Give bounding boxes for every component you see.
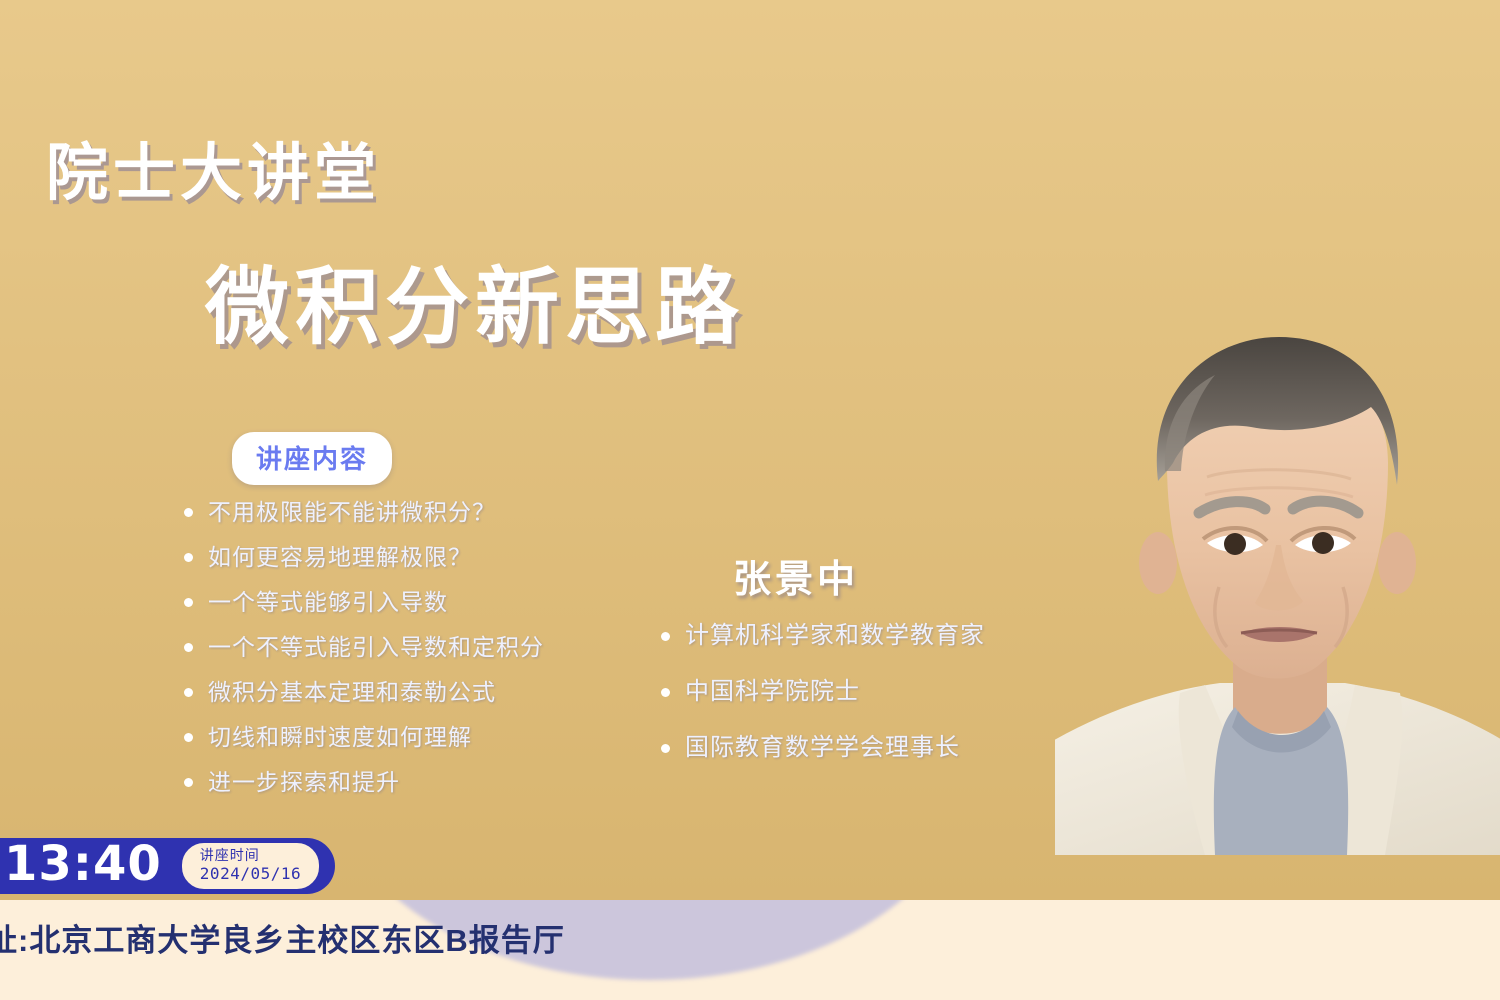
list-item: 国际教育数学学会理事长 [655, 730, 985, 766]
speaker-credentials-list: 计算机科学家和数学教育家 中国科学院院士 国际教育数学学会理事长 [655, 618, 985, 786]
venue-address: 址:北京工商大学良乡主校区东区B报告厅 [0, 915, 565, 960]
date-capsule: 讲座时间 2024/05/16 [180, 841, 321, 891]
speaker-name: 张景中 [733, 548, 859, 603]
list-item: 如何更容易地理解极限？ [178, 540, 544, 574]
list-item: 一个不等式能引入导数和定积分 [178, 630, 544, 664]
list-item: 微积分基本定理和泰勒公式 [178, 675, 544, 709]
list-item: 一个等式能够引入导数 [178, 585, 544, 619]
lecture-date: 2024/05/16 [200, 864, 301, 884]
speaker-portrait [1055, 295, 1500, 855]
list-item: 进一步探索和提升 [178, 765, 544, 799]
list-item: 中国科学院院士 [655, 674, 985, 710]
lecture-poster: F G B K P D E C M x 北京工商大学 [0, 0, 1500, 1000]
schedule-time-badge: 13:40 讲座时间 2024/05/16 [0, 838, 335, 894]
time-label: 讲座时间 [200, 847, 301, 864]
poster-kicker-title: 院士大讲堂 [46, 122, 381, 212]
lecture-time: 13:40 [4, 840, 162, 892]
list-item: 计算机科学家和数学教育家 [655, 618, 985, 654]
content-section-badge: 讲座内容 [232, 432, 392, 485]
poster-main-title: 微积分新思路 [205, 240, 745, 361]
list-item: 切线和瞬时速度如何理解 [178, 720, 544, 754]
topic-list: 不用极限能不能讲微积分？ 如何更容易地理解极限？ 一个等式能够引入导数 一个不等… [178, 495, 544, 810]
list-item: 不用极限能不能讲微积分？ [178, 495, 544, 529]
